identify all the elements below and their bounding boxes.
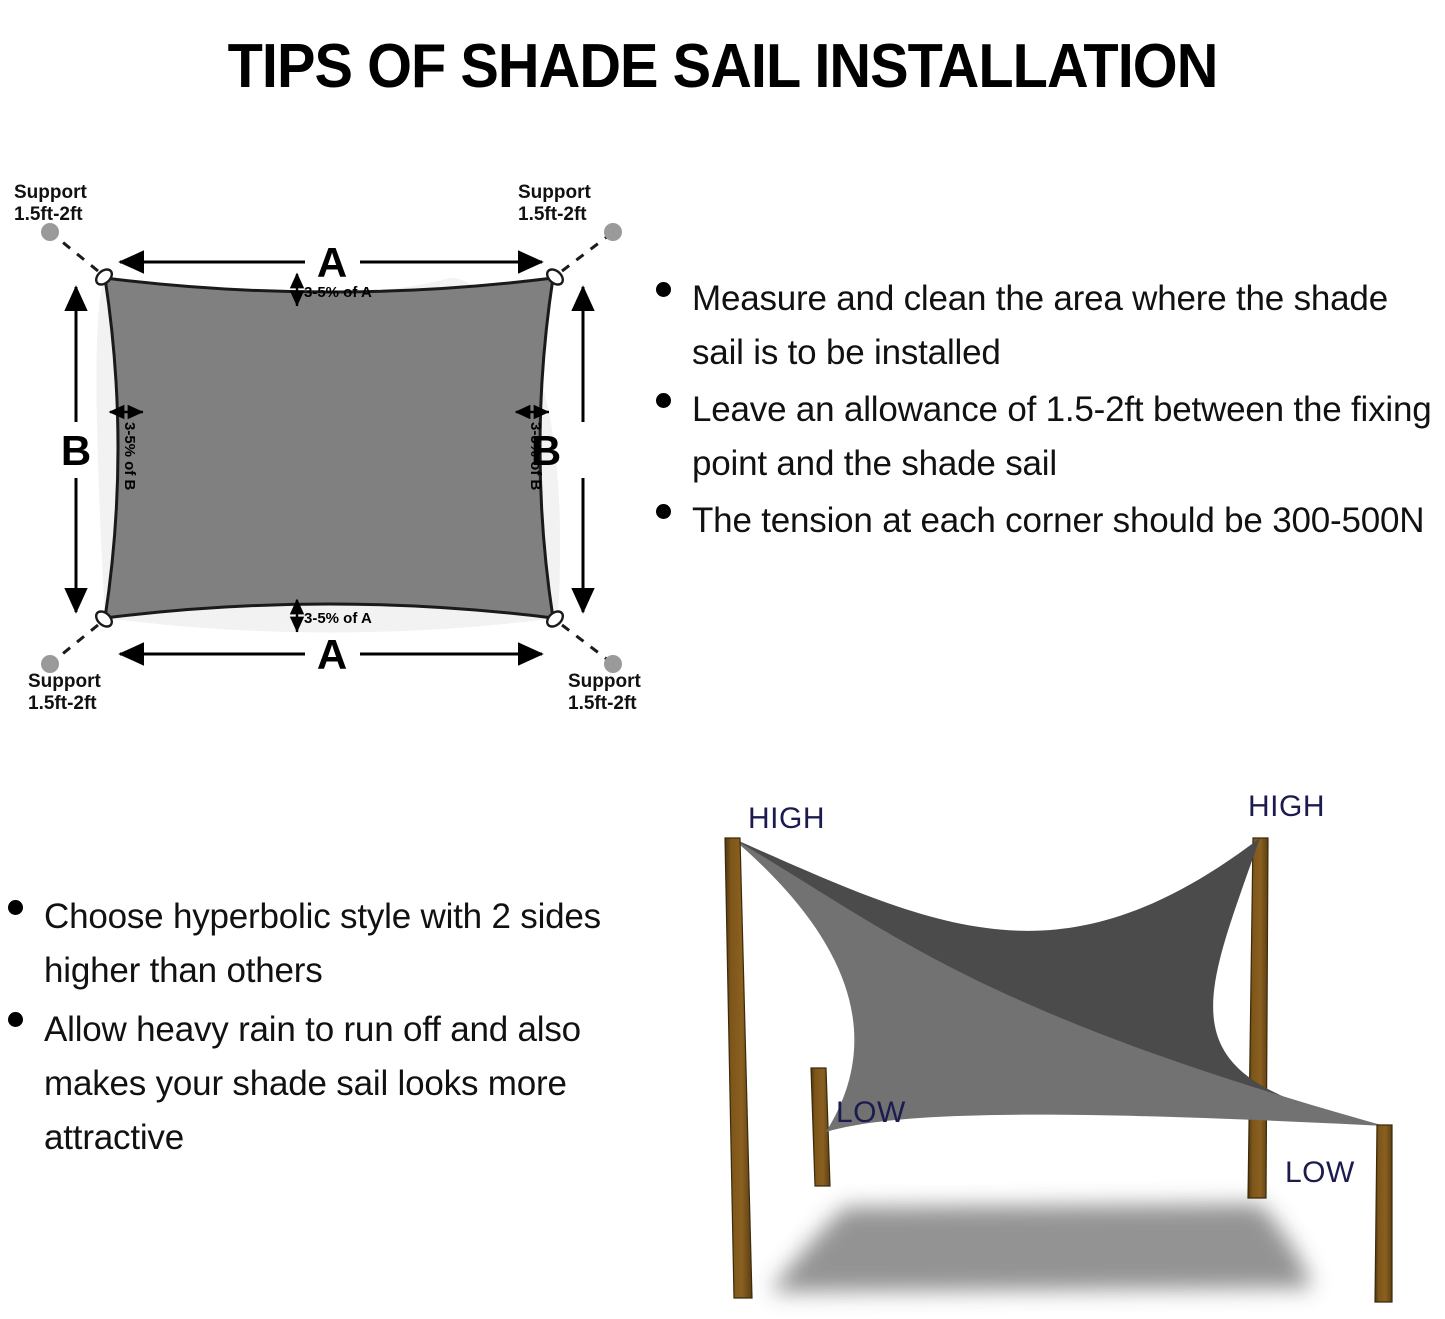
tip-text: Leave an allowance of 1.5-2ft between th… [692,383,1445,490]
bullet-icon [656,282,671,297]
dim-a-bottom-label: A [317,631,347,678]
support-label-top-right-line2: 1.5ft-2ft [518,204,587,225]
tip-text: The tension at each corner should be 300… [692,494,1445,548]
label-low-right: LOW [1285,1156,1355,1189]
curve-top-label: 3-5% of A [304,284,372,301]
support-label-top-right-line1: Support [518,182,591,203]
sail-shape-group [97,278,561,633]
dimension-a-top: A [120,239,542,286]
tip-text: Measure and clean the area where the sha… [692,272,1445,379]
tether-bottom-right [562,625,608,660]
list-item: Choose hyperbolic style with 2 sides hig… [0,890,630,999]
tip-text: Allow heavy rain to run off and also mak… [44,1003,630,1166]
list-item: Measure and clean the area where the sha… [648,272,1445,379]
dimension-b-left: B [61,287,91,612]
list-item: Leave an allowance of 1.5-2ft between th… [648,383,1445,490]
curve-left-label: 3-5% of B [121,422,138,491]
dimension-a-bottom: A [120,631,542,678]
page-title: TIPS OF SHADE SAIL INSTALLATION [51,36,1395,98]
bullet-icon [8,1012,23,1027]
tips-list-right: Measure and clean the area where the sha… [648,272,1445,552]
label-high-left: HIGH [748,802,825,835]
hyperbolic-sail-diagram: HIGH HIGH LOW LOW [640,780,1445,1319]
support-dot-top-left [41,223,59,241]
label-high-right: HIGH [1248,790,1325,823]
dim-a-top-label: A [317,239,347,286]
post-low-left [811,1068,830,1186]
tether-bottom-left [55,625,98,660]
post-high-right [1248,838,1268,1198]
label-low-left: LOW [836,1096,906,1129]
tips-list-bottom: Choose hyperbolic style with 2 sides hig… [0,890,630,1169]
tether-top-left [55,236,98,271]
bullet-icon [8,900,23,915]
sail-panel [105,278,553,618]
curve-right-label: 3-5% of B [527,422,544,491]
tether-top-right [562,236,608,271]
support-label-top-left-line2: 1.5ft-2ft [14,204,83,225]
ground-shadow [770,1204,1312,1292]
sail-measurement-diagram: Support 1.5ft-2ft Support 1.5ft-2ft Supp… [0,160,660,730]
tip-text: Choose hyperbolic style with 2 sides hig… [44,890,630,999]
support-label-bottom-right-line2: 1.5ft-2ft [568,693,637,714]
support-label-bottom-right-line1: Support [568,671,641,692]
bullet-icon [656,393,671,408]
dim-b-left-label: B [61,427,91,474]
list-item: Allow heavy rain to run off and also mak… [0,1003,630,1166]
curve-bottom-label: 3-5% of A [304,610,372,627]
list-item: The tension at each corner should be 300… [648,494,1445,548]
support-label-top-left-line1: Support [14,182,87,203]
support-label-bottom-left-line2: 1.5ft-2ft [28,693,97,714]
post-low-right [1375,1125,1392,1302]
support-dot-top-right [604,223,622,241]
bullet-icon [656,504,671,519]
support-label-bottom-left-line1: Support [28,671,101,692]
post-high-left [725,838,752,1298]
